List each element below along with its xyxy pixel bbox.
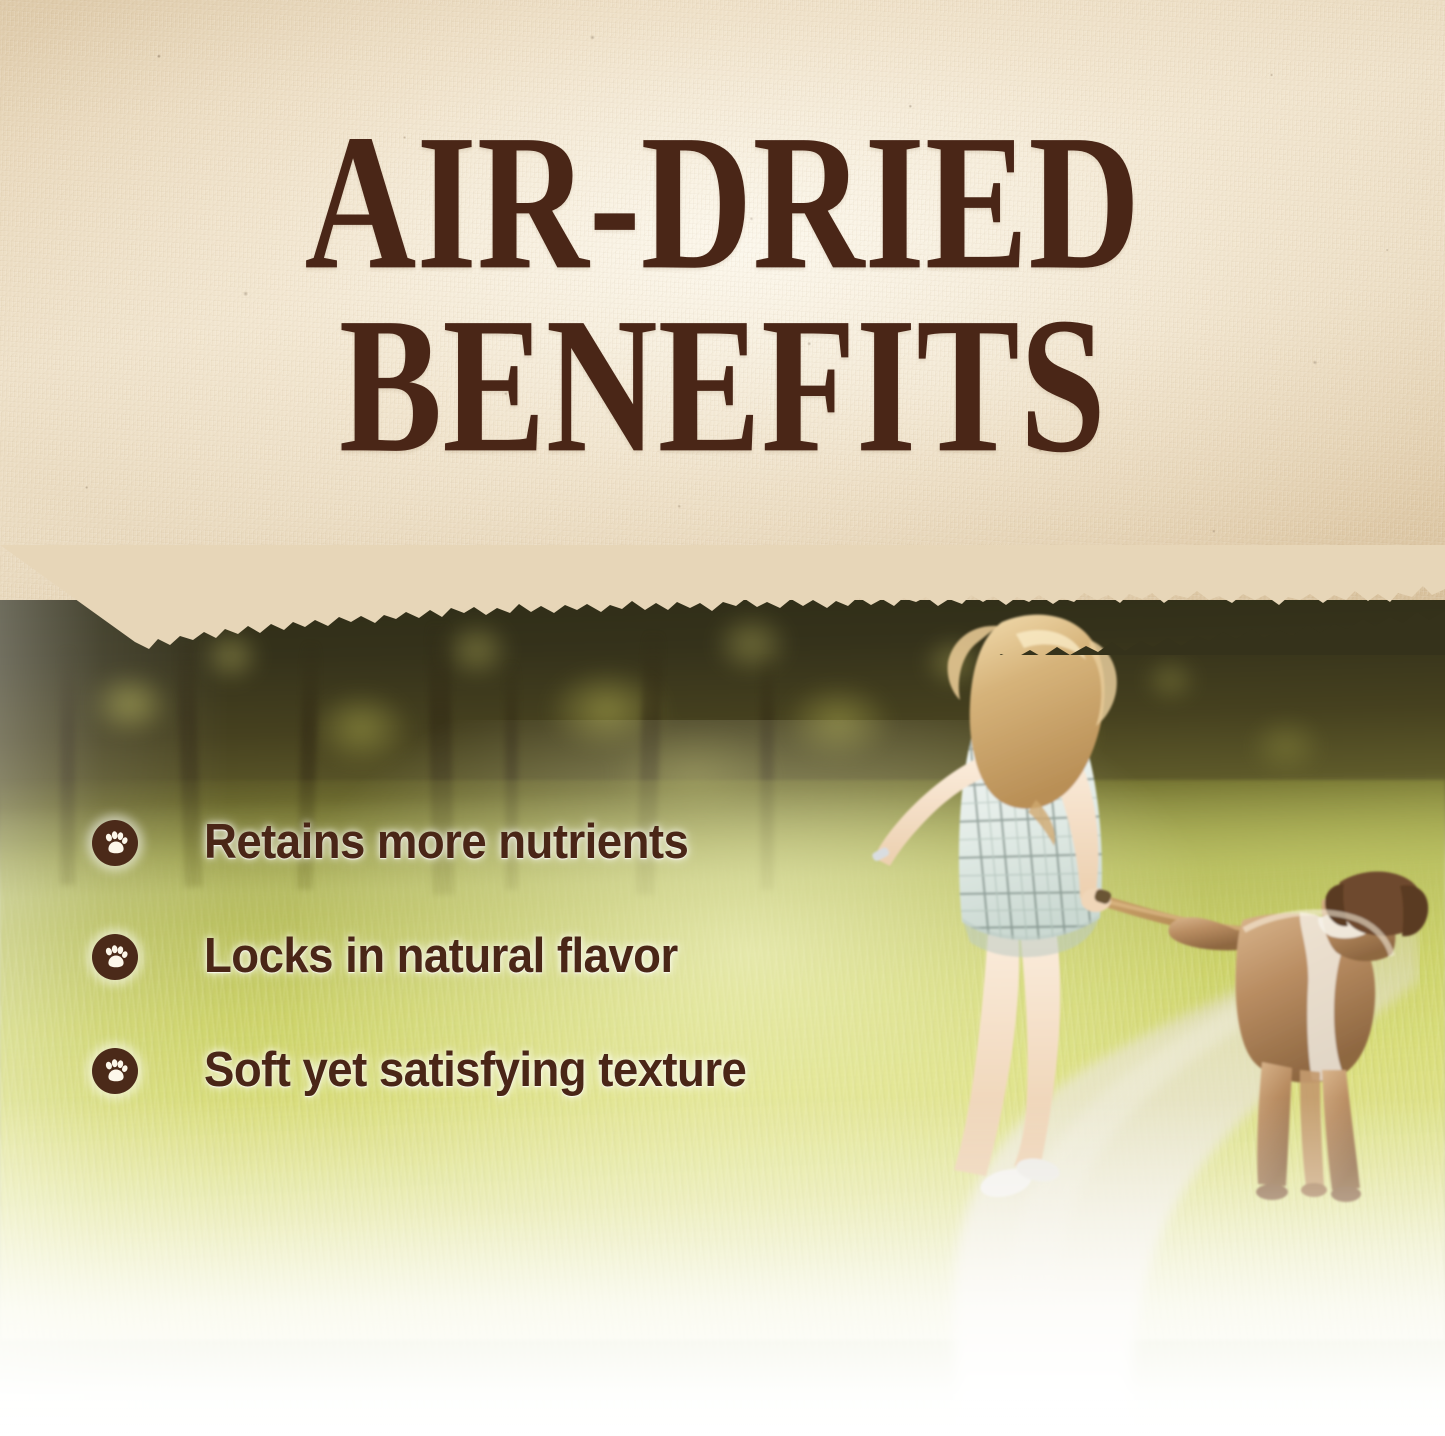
- list-item: Retains more nutrients: [92, 820, 992, 866]
- benefit-label: Soft yet satisfying texture: [204, 1046, 746, 1096]
- benefits-list: Retains more nutrients Locks in natural …: [92, 820, 992, 1094]
- paw-print-icon: [92, 1048, 138, 1094]
- paper-grain-texture: [0, 0, 1445, 625]
- benefit-label: Locks in natural flavor: [204, 932, 678, 982]
- air-dried-benefits-poster: AIR-DRIED BENEFITS: [0, 0, 1445, 1436]
- benefit-label: Retains more nutrients: [204, 818, 688, 868]
- list-item: Locks in natural flavor: [92, 934, 992, 980]
- paper-speck-texture: [0, 0, 1445, 625]
- list-item: Soft yet satisfying texture: [92, 1048, 992, 1094]
- paw-print-icon: [92, 820, 138, 866]
- kraft-paper-header-panel: [0, 0, 1445, 625]
- paw-print-icon: [92, 934, 138, 980]
